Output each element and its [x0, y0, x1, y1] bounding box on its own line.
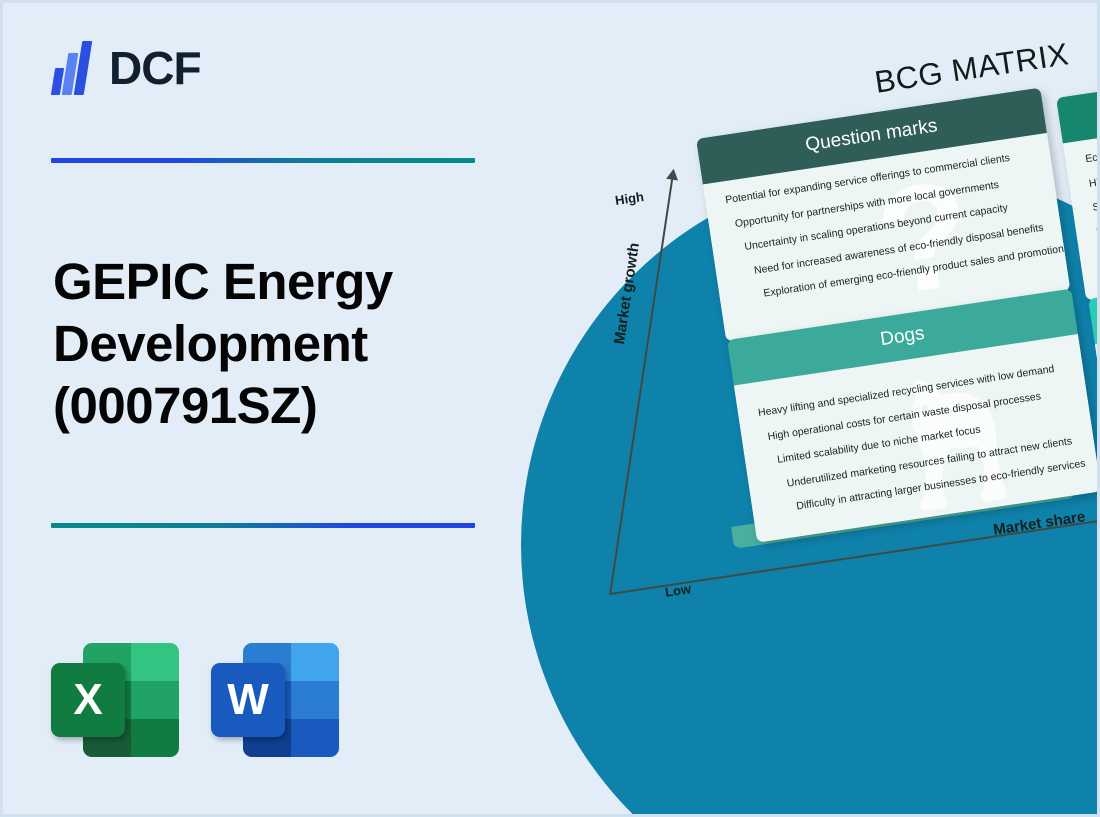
divider-bottom	[51, 523, 475, 528]
logo-bar-3	[74, 41, 93, 95]
excel-letter: X	[51, 663, 125, 737]
x-axis-label: Market share	[992, 508, 1086, 538]
word-file-icon[interactable]: W	[211, 641, 339, 759]
excel-file-icon[interactable]: X	[51, 641, 179, 759]
divider-top	[51, 158, 475, 163]
quadrant-question-marks-list: Potential for expanding service offering…	[725, 150, 1046, 304]
y-axis-label: Market growth	[611, 242, 643, 346]
y-axis	[609, 177, 673, 595]
left-panel: DCF GEPIC Energy Development (000791SZ) …	[3, 3, 523, 817]
word-letter: W	[211, 663, 285, 737]
matrix-stage: BCG MATRIX High Low Market growth Market…	[503, 3, 1100, 817]
quadrant-dogs-list: Heavy lifting and specialized recycling …	[757, 363, 1078, 517]
download-icons: X W	[51, 641, 339, 759]
y-axis-low-label: Low	[664, 581, 692, 599]
slide-canvas: DCF GEPIC Energy Development (000791SZ) …	[0, 0, 1100, 817]
y-axis-high-label: High	[614, 189, 645, 208]
brand-name: DCF	[109, 45, 201, 91]
list-item: Exploration of emerging eco-friendly pro…	[763, 247, 1046, 300]
matrix-title: BCG MATRIX	[872, 36, 1071, 101]
page-title: GEPIC Energy Development (000791SZ)	[53, 251, 493, 438]
bcg-matrix-panel: BCG MATRIX High Low Market growth Market…	[503, 3, 1100, 817]
bar-chart-logo-icon	[51, 41, 95, 95]
brand-logo[interactable]: DCF	[51, 41, 201, 95]
